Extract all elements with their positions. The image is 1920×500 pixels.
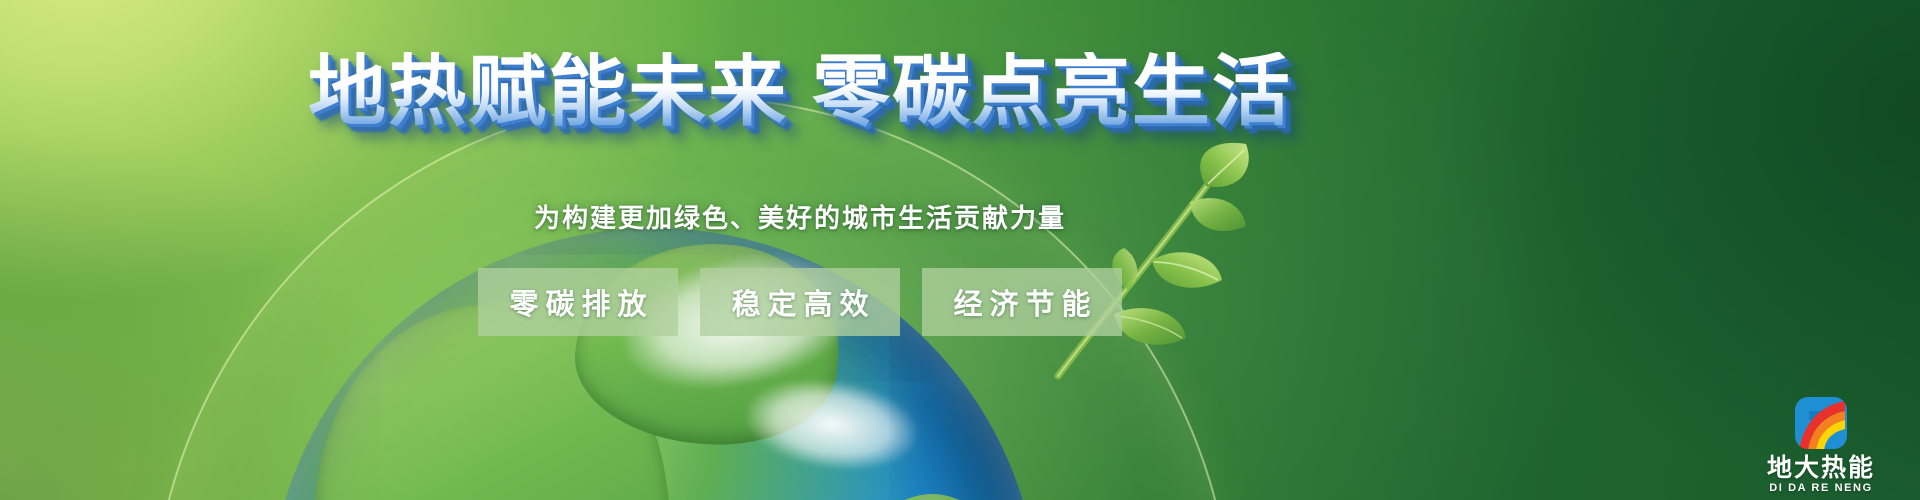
logo-name-cn: 地大热能 <box>1767 455 1875 481</box>
feature-badge-list: 零碳排放 稳定高效 经济节能 <box>0 268 1600 336</box>
banner-content: 地热赋能未来 零碳点亮生活 为构建更加绿色、美好的城市生活贡献力量 零碳排放 稳… <box>0 0 1920 500</box>
feature-badge-economical[interactable]: 经济节能 <box>922 268 1122 336</box>
banner-subtitle: 为构建更加绿色、美好的城市生活贡献力量 <box>0 198 1600 235</box>
feature-badge-stable-efficient[interactable]: 稳定高效 <box>700 268 900 336</box>
logo-name-pinyin: DI DA RE NENG <box>1769 482 1873 494</box>
logo-rainbow-square-icon <box>1793 395 1849 451</box>
banner-headline: 地热赋能未来 零碳点亮生活 <box>0 52 1600 130</box>
brand-logo[interactable]: 地大热能 DI DA RE NENG <box>1760 395 1882 494</box>
promo-banner: 地热赋能未来 零碳点亮生活 为构建更加绿色、美好的城市生活贡献力量 零碳排放 稳… <box>0 0 1920 500</box>
feature-badge-zero-carbon[interactable]: 零碳排放 <box>478 268 678 336</box>
